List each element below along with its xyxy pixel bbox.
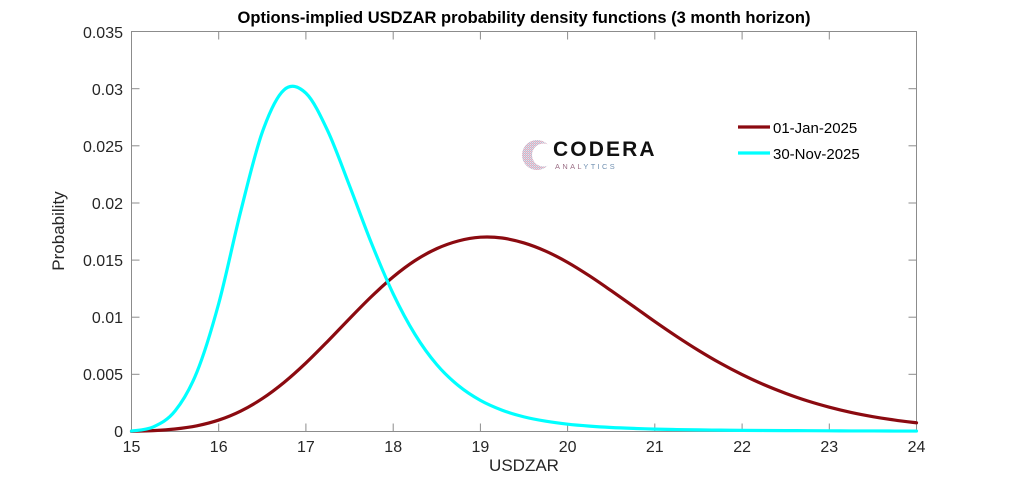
y-tick-label: 0.02 [92, 196, 123, 213]
x-tick-label: 20 [559, 439, 577, 456]
x-tick-label: 16 [210, 439, 228, 456]
legend-label-01-jan-2025: 01-Jan-2025 [773, 120, 857, 137]
chart-figure: Options-implied USDZAR probability densi… [0, 0, 1024, 482]
x-tick-label: 18 [384, 439, 402, 456]
x-axis-tick-labels: 15 16 17 18 19 20 21 22 23 24 [123, 439, 926, 456]
x-tick-label: 23 [820, 439, 838, 456]
x-tick-label: 19 [472, 439, 490, 456]
plot-frame [132, 32, 917, 432]
x-tick-label: 24 [908, 439, 926, 456]
legend-label-30-nov-2025: 30-Nov-2025 [773, 146, 860, 163]
y-tick-label: 0.015 [83, 253, 123, 270]
y-tick-label: 0.03 [92, 82, 123, 99]
y-axis-label: Probability [49, 191, 68, 271]
x-tick-label: 21 [646, 439, 664, 456]
y-tick-label: 0.005 [83, 367, 123, 384]
x-tick-label: 22 [733, 439, 751, 456]
y-tick-label: 0.01 [92, 310, 123, 327]
x-tick-label: 15 [123, 439, 141, 456]
y-tick-label: 0.035 [83, 25, 123, 42]
y-tick-label: 0.025 [83, 139, 123, 156]
chart-plot-area: Options-implied USDZAR probability densi… [0, 0, 1024, 482]
y-axis-tick-labels: 0 0.005 0.01 0.015 0.02 0.025 0.03 0.035 [83, 25, 123, 441]
x-tick-label: 17 [297, 439, 315, 456]
chart-title: Options-implied USDZAR probability densi… [238, 9, 811, 27]
x-axis-label: USDZAR [489, 456, 559, 475]
